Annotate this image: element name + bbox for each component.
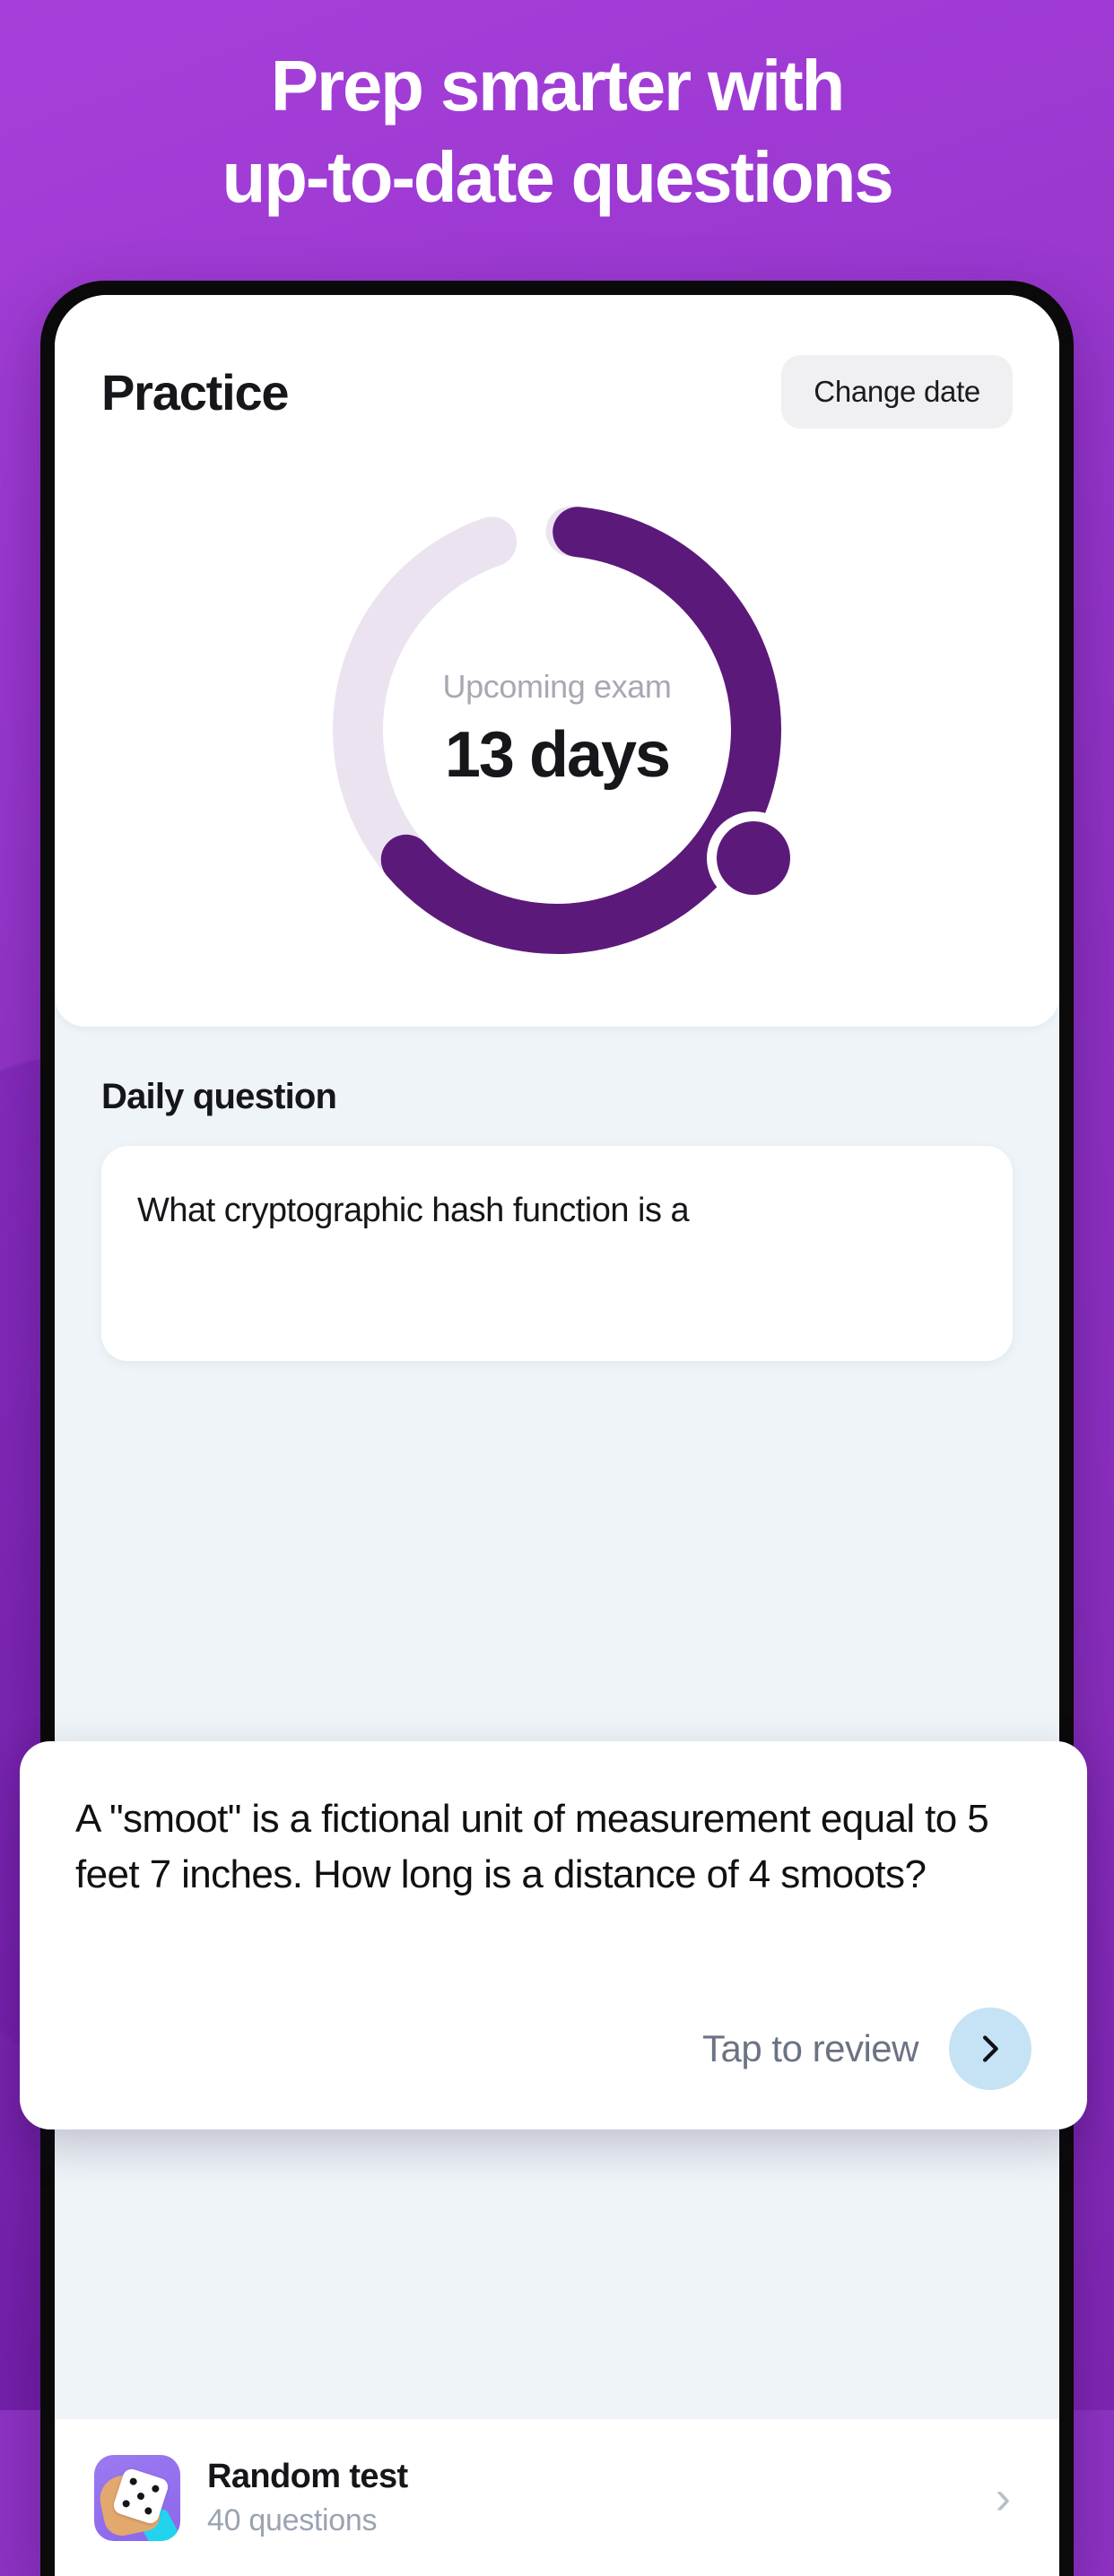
- hero-headline: Prep smarter with up-to-date questions: [0, 50, 1114, 213]
- overlay-actions: Tap to review: [75, 2008, 1031, 2090]
- phone-mockup-frame: Practice Change date Upcoming exam 13 da…: [40, 281, 1074, 2576]
- practice-header: Practice Change date: [101, 349, 1013, 435]
- tap-to-review-label: Tap to review: [702, 2027, 918, 2070]
- daily-question-title: Daily question: [101, 1077, 1013, 1117]
- chevron-right-icon: [972, 2031, 1008, 2067]
- daily-question-section: Daily question What cryptographic hash f…: [55, 1027, 1059, 1361]
- overlay-question-text: A "smoot" is a fictional unit of measure…: [75, 1791, 1031, 1904]
- ring-center-content: Upcoming exam 13 days: [305, 668, 809, 792]
- exam-countdown-label: Upcoming exam: [305, 668, 809, 706]
- progress-knob: [717, 821, 790, 895]
- daily-question-text: What cryptographic hash function is a: [137, 1187, 977, 1234]
- hero-headline-line-2: up-to-date questions: [22, 142, 1092, 213]
- list-item-random-test[interactable]: Random test 40 questions ›: [55, 2418, 1059, 2576]
- list-item-title: Random test: [207, 2458, 969, 2496]
- list-item-text: Random test 40 questions: [207, 2458, 969, 2538]
- list-item-subtitle: 40 questions: [207, 2503, 969, 2538]
- daily-question-overlay-card[interactable]: A "smoot" is a fictional unit of measure…: [20, 1741, 1087, 2129]
- dice-hand-icon: [94, 2455, 180, 2541]
- daily-question-card[interactable]: What cryptographic hash function is a: [101, 1146, 1013, 1361]
- exam-countdown-value: 13 days: [305, 718, 809, 792]
- review-next-button[interactable]: [949, 2008, 1031, 2090]
- hero-headline-line-1: Prep smarter with: [271, 46, 843, 126]
- practice-card: Practice Change date Upcoming exam 13 da…: [55, 295, 1059, 1027]
- chevron-right-icon[interactable]: ›: [996, 2475, 1020, 2521]
- page-title: Practice: [101, 363, 288, 421]
- exam-progress-ring: Upcoming exam 13 days: [305, 478, 809, 982]
- phone-screen: Practice Change date Upcoming exam 13 da…: [55, 295, 1059, 2576]
- change-date-button[interactable]: Change date: [781, 355, 1013, 429]
